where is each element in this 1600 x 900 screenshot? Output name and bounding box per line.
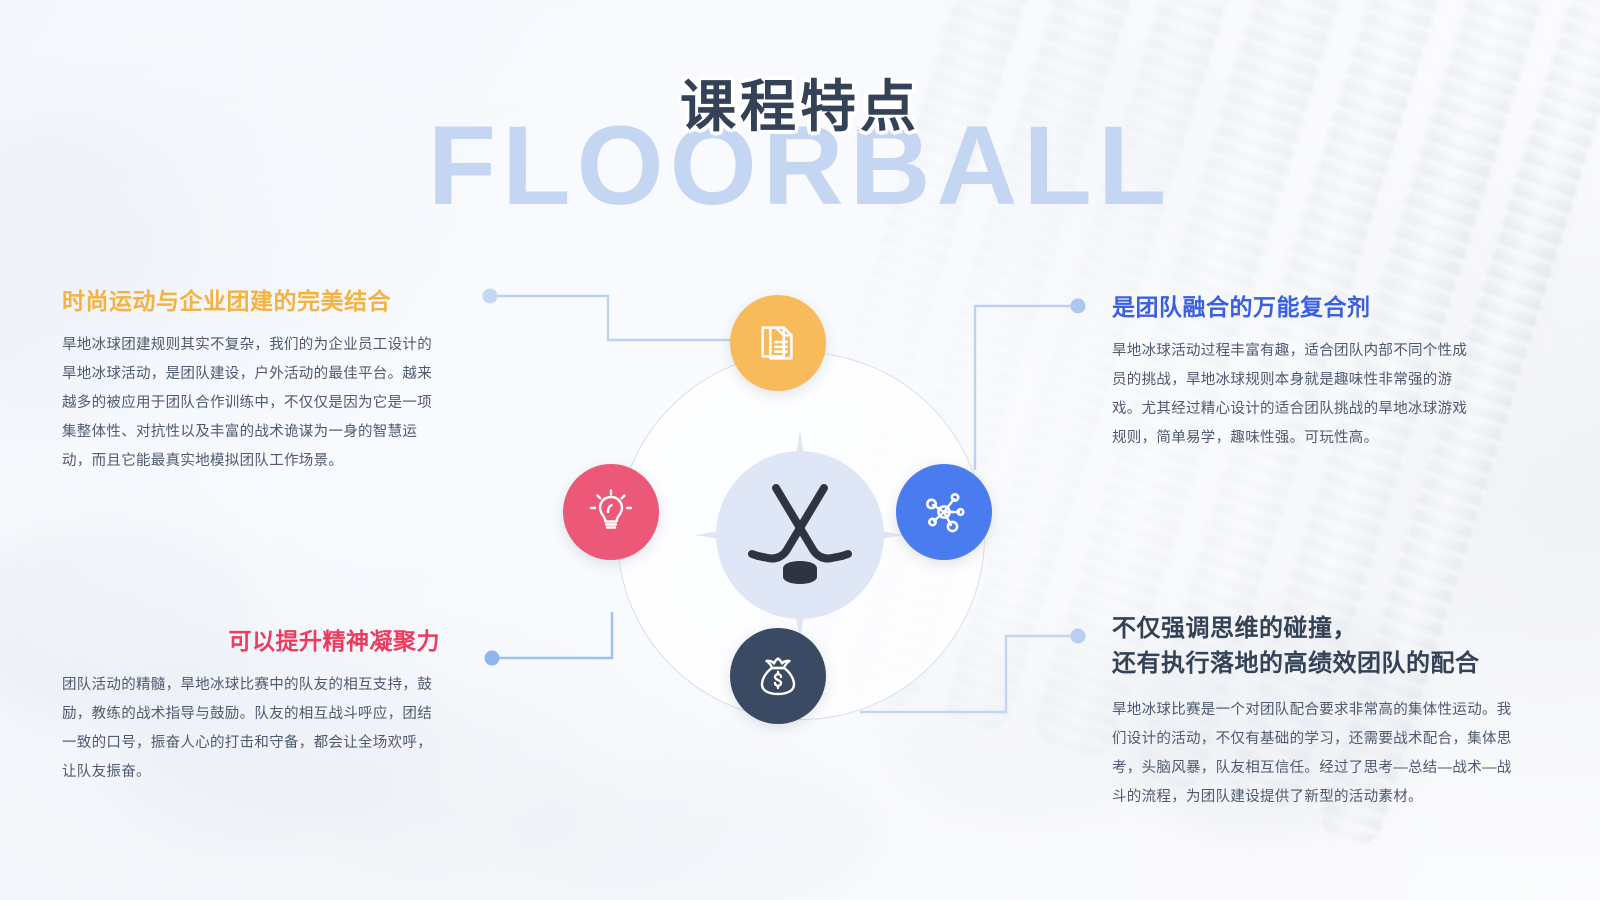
feature-block-bottom-right: 不仅强调思维的碰撞， 还有执行落地的高绩效团队的配合 旱地冰球比赛是一个对团队配… (1112, 612, 1512, 812)
feature-heading-top-right: 是团队融合的万能复合剂 (1112, 292, 1472, 323)
feature-heading-bottom-right-line1: 不仅强调思维的碰撞， (1112, 615, 1357, 642)
feature-body-top-right: 旱地冰球活动过程丰富有趣，适合团队内部不同个性成员的挑战，旱地冰球规则本身就是趣… (1112, 337, 1472, 453)
presentation-slide: FLOORBALL 课程特点 (0, 0, 1600, 900)
money-bag-icon (754, 652, 802, 700)
feature-heading-top-left: 时尚运动与企业团建的完美结合 (62, 286, 440, 317)
feature-body-top-left: 旱地冰球团建规则其实不复杂，我们的为企业员工设计的旱地冰球活动，是团队建设，户外… (62, 331, 440, 476)
feature-body-bottom-right: 旱地冰球比赛是一个对团队配合要求非常高的集体性运动。我们设计的活动，不仅有基础的… (1112, 696, 1512, 812)
network-nodes-icon (920, 488, 968, 536)
connector-top-right (975, 299, 1086, 471)
feature-block-top-right: 是团队融合的万能复合剂 旱地冰球活动过程丰富有趣，适合团队内部不同个性成员的挑战… (1112, 292, 1472, 453)
lightbulb-icon (587, 488, 635, 536)
node-network[interactable] (896, 464, 992, 560)
crossed-hockey-sticks-icon (740, 480, 860, 590)
title-area: FLOORBALL 课程特点 (0, 62, 1600, 143)
feature-heading-bottom-right-line2: 还有执行落地的高绩效团队的配合 (1112, 650, 1480, 677)
documents-icon (755, 320, 801, 366)
feature-body-bottom-left: 团队活动的精髓，旱地冰球比赛中的队友的相互支持，鼓励，教练的战术指导与鼓励。队友… (62, 671, 440, 787)
hub-center[interactable] (694, 429, 906, 641)
node-lightbulb[interactable] (563, 464, 659, 560)
feature-heading-bottom-right: 不仅强调思维的碰撞， 还有执行落地的高绩效团队的配合 (1112, 612, 1512, 682)
feature-block-bottom-left: 可以提升精神凝聚力 团队活动的精髓，旱地冰球比赛中的队友的相互支持，鼓励，教练的… (62, 626, 440, 787)
feature-block-top-left: 时尚运动与企业团建的完美结合 旱地冰球团建规则其实不复杂，我们的为企业员工设计的… (62, 286, 440, 476)
node-money-bag[interactable] (730, 628, 826, 724)
feature-heading-bottom-left: 可以提升精神凝聚力 (62, 626, 440, 657)
page-title: 课程特点 (0, 62, 1600, 143)
node-documents[interactable] (730, 295, 826, 391)
connector-bottom-left (485, 612, 613, 666)
